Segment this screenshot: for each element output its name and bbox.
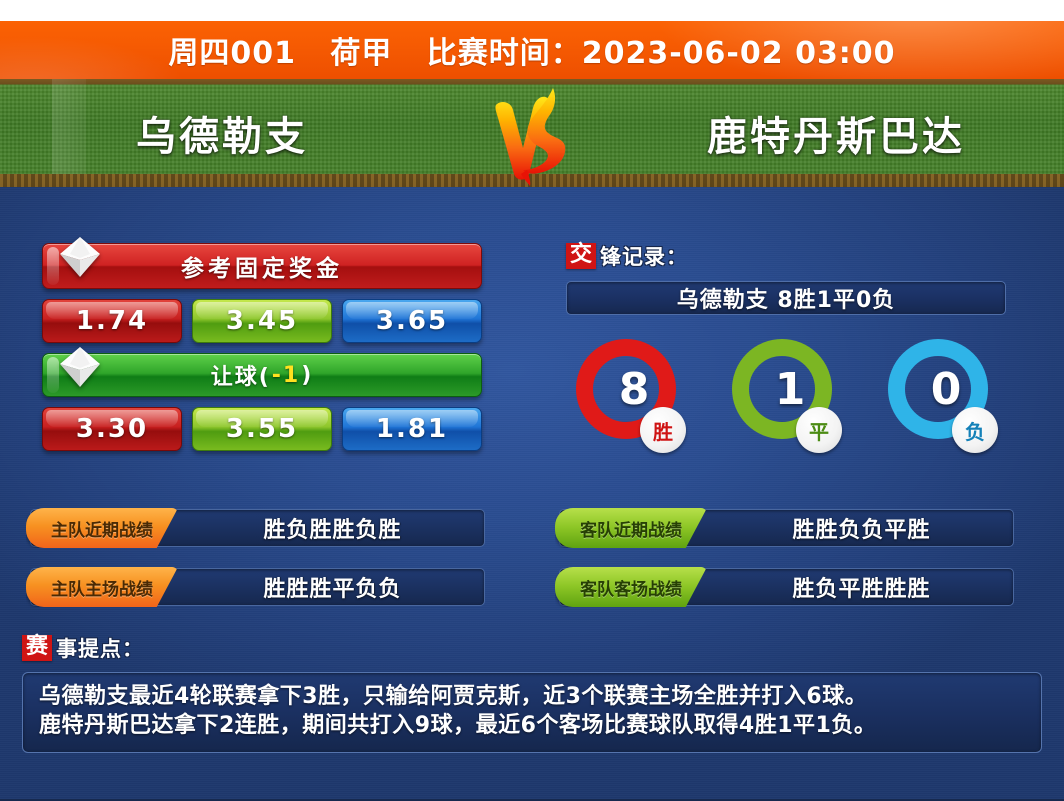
away-recent-form-row: 胜胜负负平胜 客队近期战绩 — [559, 509, 1014, 547]
match-header-bar: 周四001 荷甲 比赛时间：2023-06-02 03:00 — [0, 21, 1064, 79]
away-recent-form-tag: 客队近期战绩 — [555, 508, 707, 548]
ring-losses-label: 负 — [952, 407, 998, 453]
ring-losses: 0 负 — [888, 339, 996, 451]
ring-wins-label: 胜 — [640, 407, 686, 453]
away-team-name: 鹿特丹斯巴达 — [594, 79, 1064, 187]
h2h-label-text: 锋记录： — [600, 241, 688, 271]
fixed-odds-row: 1.74 3.45 3.65 — [42, 299, 482, 343]
tips-label-text: 事提点： — [56, 633, 144, 663]
home-recent-form-value: 胜负胜胜负胜 — [263, 512, 401, 544]
ring-draws-label: 平 — [796, 407, 842, 453]
away-venue-form-value: 胜负平胜胜胜 — [792, 571, 930, 603]
vs-flame-icon — [483, 82, 579, 186]
diamond-gem-icon — [57, 344, 103, 390]
away-venue-form-row: 胜负平胜胜胜 客队客场战绩 — [559, 568, 1014, 606]
tips-label-box: 赛 — [22, 635, 52, 661]
handicap-odds-row: 3.30 3.55 1.81 — [42, 407, 482, 451]
handicap-label-suffix: ) — [301, 363, 313, 388]
home-venue-form-row: 胜胜胜平负负 主队主场战绩 — [30, 568, 485, 606]
handicap-title-bar: 让球( -1 ) — [42, 353, 482, 397]
home-venue-form-value: 胜胜胜平负负 — [263, 571, 401, 603]
odd-draw[interactable]: 3.45 — [192, 299, 332, 343]
handicap-label-prefix: 让球( — [211, 359, 271, 391]
away-recent-form-value: 胜胜负负平胜 — [792, 512, 930, 544]
handicap-odd-draw[interactable]: 3.55 — [192, 407, 332, 451]
away-venue-form-tag: 客队客场战绩 — [555, 567, 707, 607]
odds-panel-title-text: 参考固定奖金 — [181, 249, 343, 283]
h2h-summary: 乌德勒支 8胜1平0负 — [566, 281, 1006, 315]
header-title: 周四001 荷甲 比赛时间：2023-06-02 03:00 — [168, 28, 895, 72]
home-venue-form-tag: 主队主场战绩 — [26, 567, 178, 607]
head-to-head-panel: 交 锋记录： 乌德勒支 8胜1平0负 8 胜 1 平 0 负 — [566, 241, 1006, 451]
odd-home-win[interactable]: 1.74 — [42, 299, 182, 343]
h2h-rings: 8 胜 1 平 0 负 — [566, 339, 1006, 451]
tips-line-2: 鹿特丹斯巴达拿下2连胜，期间共打入9球，最近6个客场比赛球队取得4胜1平1负。 — [39, 711, 1025, 740]
match-tips-panel: 赛 事提点： 乌德勒支最近4轮联赛拿下3胜，只输给阿贾克斯，近3个联赛主场全胜并… — [22, 633, 1042, 753]
home-recent-form-row: 胜负胜胜负胜 主队近期战绩 — [30, 509, 485, 547]
tips-line-1: 乌德勒支最近4轮联赛拿下3胜，只输给阿贾克斯，近3个联赛主场全胜并打入6球。 — [39, 682, 1025, 711]
diamond-gem-icon — [57, 234, 103, 280]
handicap-odd-away-win[interactable]: 1.81 — [342, 407, 482, 451]
odd-away-win[interactable]: 3.65 — [342, 299, 482, 343]
handicap-value: -1 — [272, 363, 300, 388]
h2h-section-label: 交 锋记录： — [566, 241, 1006, 271]
odds-panel: 参考固定奖金 1.74 3.45 3.65 让球( -1 ) 3.30 3.55… — [42, 243, 482, 451]
odds-panel-title-bar: 参考固定奖金 — [42, 243, 482, 289]
home-team-name: 乌德勒支 — [0, 79, 470, 187]
tips-box: 乌德勒支最近4轮联赛拿下3胜，只输给阿贾克斯，近3个联赛主场全胜并打入6球。 鹿… — [22, 672, 1042, 753]
tips-section-label: 赛 事提点： — [22, 633, 1042, 663]
handicap-odd-home-win[interactable]: 3.30 — [42, 407, 182, 451]
h2h-label-box: 交 — [566, 243, 596, 269]
match-preview-card: 周四001 荷甲 比赛时间：2023-06-02 03:00 乌德勒支 鹿特丹斯… — [0, 0, 1064, 801]
ring-draws: 1 平 — [732, 339, 840, 451]
home-recent-form-tag: 主队近期战绩 — [26, 508, 178, 548]
ring-wins: 8 胜 — [576, 339, 684, 451]
